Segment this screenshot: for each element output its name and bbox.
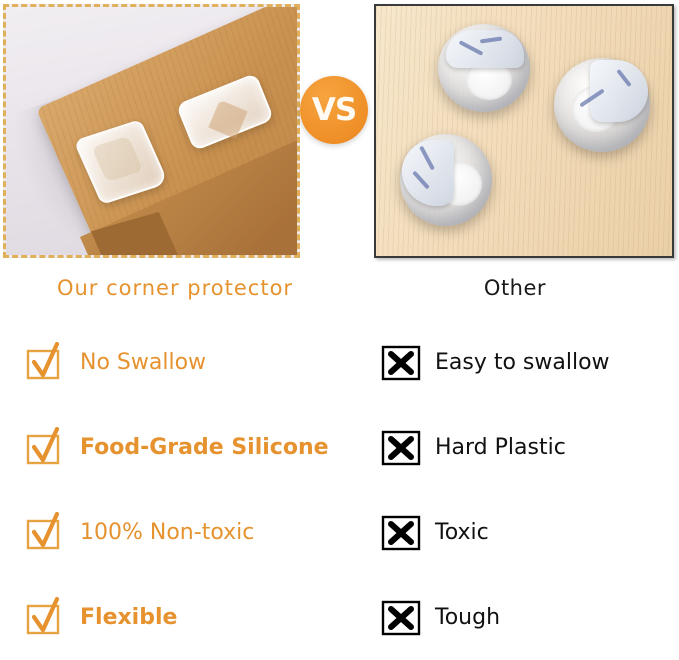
vs-badge: VS [300,76,368,144]
our-feature-label: Flexible [80,607,177,629]
comparison-row: Flexible Tough [0,575,679,660]
other-feature-label: Easy to swallow [435,352,610,374]
cross-box-icon [381,345,421,381]
comparison-rows: No Swallow Easy to swallow [0,320,679,660]
our-feature-cell: Food-Grade Silicone [24,405,329,490]
cross-box-icon [381,515,421,551]
other-feature-cell: Toxic [381,490,489,575]
other-feature-cell: Hard Plastic [381,405,566,490]
comparison-row: Food-Grade Silicone Hard Plastic [0,405,679,490]
other-column-header: Other [420,276,610,300]
our-feature-cell: Flexible [24,575,177,660]
comparison-row: No Swallow Easy to swallow [0,320,679,405]
our-feature-cell: 100% Non-toxic [24,490,254,575]
comparison-table: Our corner protector Other No Swallow [0,262,679,644]
comparison-row: 100% Non-toxic Toxic [0,490,679,575]
check-box-icon [24,597,66,639]
guard-flap-3 [402,140,454,206]
ball-corner-guard-3 [400,134,492,226]
product-photo-comparison: VS [0,0,679,262]
ball-corner-guard-1 [438,24,530,112]
check-box-icon [24,427,66,469]
our-feature-cell: No Swallow [24,320,206,405]
our-feature-label: No Swallow [80,352,206,374]
other-feature-label: Toxic [435,522,489,544]
vs-label: VS [312,95,356,126]
ball-corner-guard-2 [554,58,650,152]
our-feature-label: Food-Grade Silicone [80,437,329,459]
other-feature-label: Hard Plastic [435,437,566,459]
our-photo-scene [6,7,297,255]
other-feature-cell: Easy to swallow [381,320,610,405]
check-box-icon [24,342,66,384]
other-corner-protector-photo [374,4,674,258]
comparison-headers: Our corner protector Other [0,262,679,322]
other-feature-cell: Tough [381,575,500,660]
our-column-header: Our corner protector [40,276,310,300]
other-feature-label: Tough [435,607,500,629]
check-box-icon [24,512,66,554]
cross-box-icon [381,430,421,466]
guard-flap-1 [446,30,524,68]
our-feature-label: 100% Non-toxic [80,522,254,544]
our-corner-protector-photo [3,4,300,258]
cross-box-icon [381,600,421,636]
